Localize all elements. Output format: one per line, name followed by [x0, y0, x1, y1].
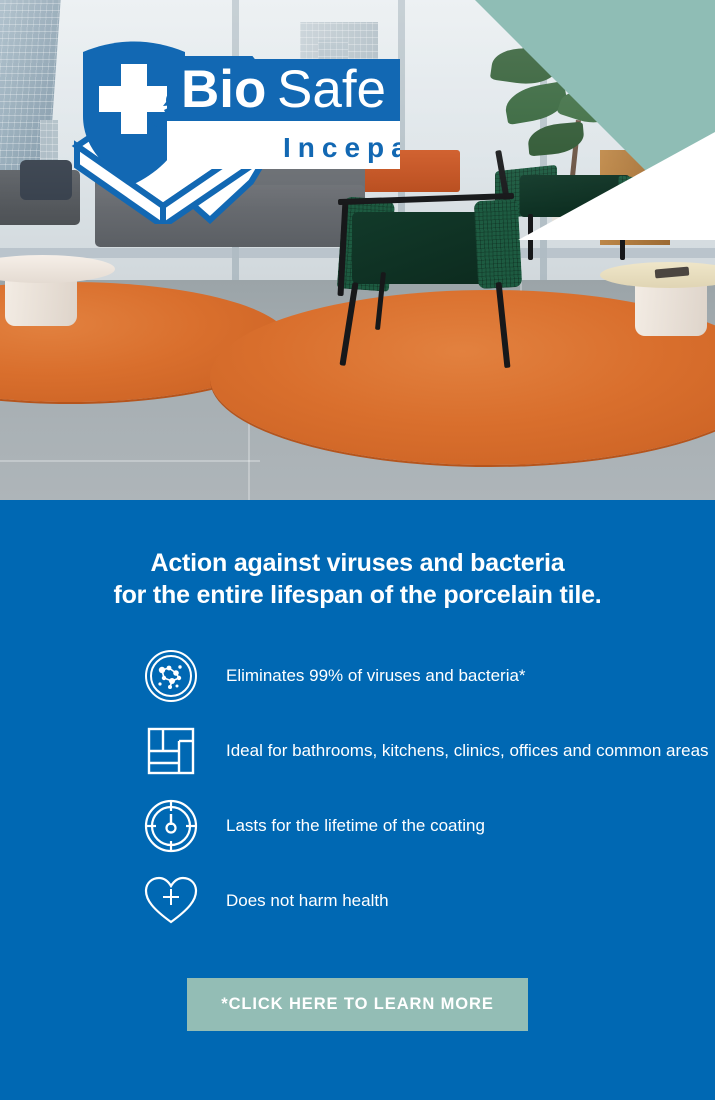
- logo-text-safe: Safe: [277, 60, 386, 119]
- logo-text-incepa: Incepa: [283, 132, 400, 163]
- page-title: Action against viruses and bacteria for …: [0, 500, 715, 611]
- biosafe-incepa-logo: Bio Safe Incepa: [55, 24, 400, 224]
- tile-layout-icon: [140, 720, 202, 782]
- cta-container: *CLICK HERE TO LEARN MORE: [0, 978, 715, 1031]
- heart-plus-icon: [140, 870, 202, 932]
- feature-item-eliminates: Eliminates 99% of viruses and bacteria*: [140, 645, 715, 707]
- learn-more-button[interactable]: *CLICK HERE TO LEARN MORE: [187, 978, 527, 1031]
- headline-line-2: for the entire lifespan of the porcelain…: [0, 580, 715, 612]
- feature-item-ideal-for: Ideal for bathrooms, kitchens, clinics, …: [140, 720, 715, 782]
- feature-label: Does not harm health: [202, 889, 389, 914]
- timer-clock-icon: [140, 795, 202, 857]
- feature-label: Ideal for bathrooms, kitchens, clinics, …: [202, 739, 709, 764]
- feature-list: Eliminates 99% of viruses and bacteria* …: [0, 645, 715, 932]
- feature-item-lasts-lifetime: Lasts for the lifetime of the coating: [140, 795, 715, 857]
- petri-dish-bacteria-icon: [140, 645, 202, 707]
- logo-text-bio: Bio: [181, 60, 266, 119]
- feature-label: Eliminates 99% of viruses and bacteria*: [202, 664, 526, 689]
- headline-line-1: Action against viruses and bacteria: [151, 549, 565, 577]
- feature-label: Lasts for the lifetime of the coating: [202, 814, 485, 839]
- biosafe-incepa-promo-page: Bio Safe Incepa Action against viruses a…: [0, 0, 715, 1100]
- blue-content-panel: Action against viruses and bacteria for …: [0, 500, 715, 1100]
- feature-item-does-not-harm: Does not harm health: [140, 870, 715, 932]
